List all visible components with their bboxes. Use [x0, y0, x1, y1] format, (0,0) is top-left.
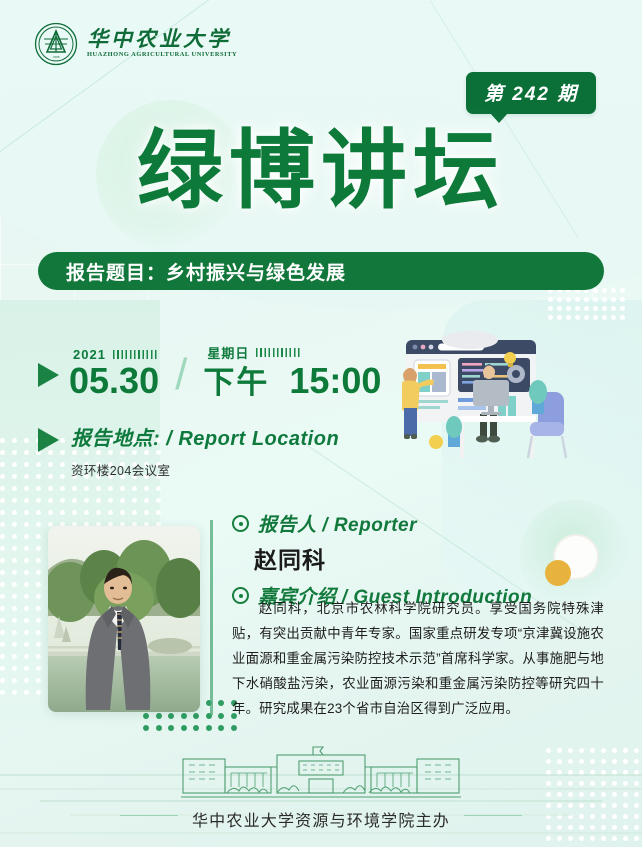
- date-value: 05.30: [69, 363, 159, 399]
- footer: 华中农业大学资源与环境学院主办: [0, 737, 642, 847]
- period-label: 下午: [203, 365, 269, 400]
- subject-text: 报告题目：乡村振兴与绿色发展: [66, 258, 346, 285]
- page-title: 绿博讲坛: [0, 128, 642, 214]
- datetime-row: 2021 05.30 / 星期日 下午 15:00: [38, 343, 381, 399]
- hatch-marks-icon-2: [256, 348, 300, 357]
- university-logo: 1898 华中农业大学 HUAZHONG AGRICULTURAL UNIVER…: [34, 22, 237, 66]
- location-heading: 报告地点: / Report Location: [71, 428, 339, 450]
- subject-bar: 报告题目：乡村振兴与绿色发展: [38, 252, 604, 290]
- reporter-block: 报告人 / Reporter 赵同科 嘉宾介绍 / Guest Introduc…: [232, 510, 604, 609]
- bullet-circle-icon: [232, 515, 249, 532]
- location-row: 报告地点: / Report Location 资环楼204会议室: [38, 422, 339, 479]
- time-block: 星期日 下午 15:00: [203, 343, 381, 399]
- location-value: 资环楼204会议室: [71, 460, 339, 479]
- hatch-marks-icon: [113, 350, 157, 359]
- triangle-marker-icon: [38, 363, 59, 387]
- university-name-cn: 华中农业大学: [87, 29, 237, 50]
- university-name-en: HUAZHONG AGRICULTURAL UNIVERSITY: [87, 52, 237, 58]
- university-seal-icon: 1898: [34, 22, 78, 66]
- photo-accent-bar: [210, 520, 213, 715]
- people-working-at-screen-illustration: [380, 330, 600, 500]
- clock-time: 15:00: [289, 360, 381, 401]
- dot-pattern-right: [548, 288, 622, 328]
- portrait-photo: [48, 526, 200, 712]
- weekday-label: 星期日: [207, 343, 249, 362]
- poster-root: 1898 华中农业大学 HUAZHONG AGRICULTURAL UNIVER…: [0, 0, 642, 847]
- triangle-marker-icon-2: [38, 428, 59, 452]
- reporter-label-line: 报告人 / Reporter: [232, 510, 604, 537]
- reporter-label: 报告人 / Reporter: [258, 510, 417, 537]
- date-block: 2021 05.30: [69, 347, 159, 399]
- reporter-name: 赵同科: [254, 541, 604, 575]
- campus-building-icon: [181, 745, 461, 807]
- time-value: 下午 15:00: [203, 363, 381, 399]
- svg-text:1898: 1898: [53, 55, 60, 59]
- issue-badge: 第 242 期: [466, 72, 596, 114]
- datetime-separator: /: [175, 353, 187, 397]
- footer-text: 华中农业大学资源与环境学院主办: [0, 807, 642, 831]
- guest-bio-text: 赵同科，北京市农林科学院研究员。享受国务院特殊津贴，有突出贡献中青年专家。国家重…: [232, 596, 604, 721]
